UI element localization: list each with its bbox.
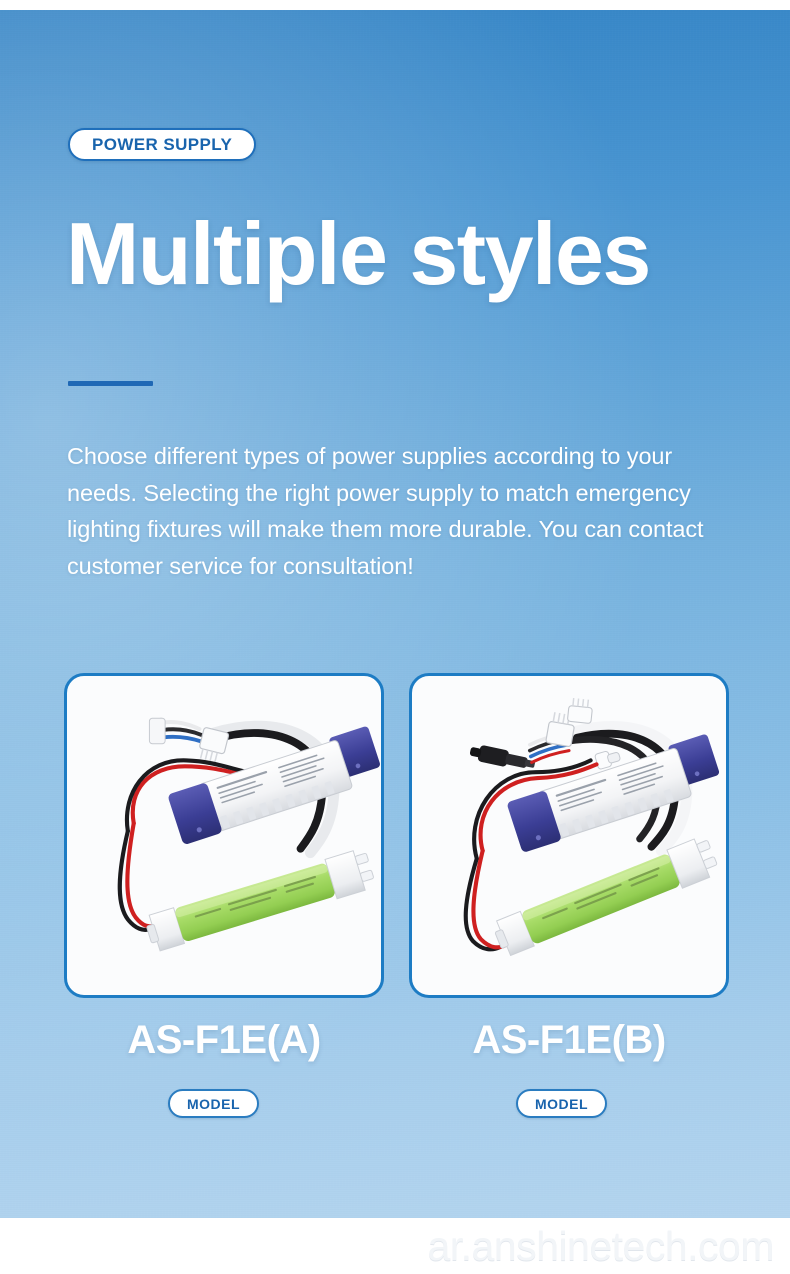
product-card-a[interactable]: AS-F1E(A) <box>64 673 384 998</box>
product-image-frame-b <box>409 673 729 998</box>
promo-page: POWER SUPPLY Multiple styles Choose diff… <box>0 0 790 1274</box>
model-badge-a: MODEL <box>168 1089 259 1118</box>
product-model-b: AS-F1E(B) <box>409 1018 729 1063</box>
product-model-a: AS-F1E(A) <box>64 1018 384 1063</box>
model-badge-a-label: MODEL <box>187 1096 240 1112</box>
site-watermark: ar.anshinetech.com <box>304 1218 774 1274</box>
model-badge-b: MODEL <box>516 1089 607 1118</box>
product-card-list: AS-F1E(A) MODEL <box>0 0 790 1274</box>
product-image-frame-a <box>64 673 384 998</box>
product-photo-b <box>412 676 726 995</box>
model-badge-b-label: MODEL <box>535 1096 588 1112</box>
product-card-b[interactable]: AS-F1E(B) <box>409 673 729 998</box>
product-photo-a <box>67 676 381 995</box>
